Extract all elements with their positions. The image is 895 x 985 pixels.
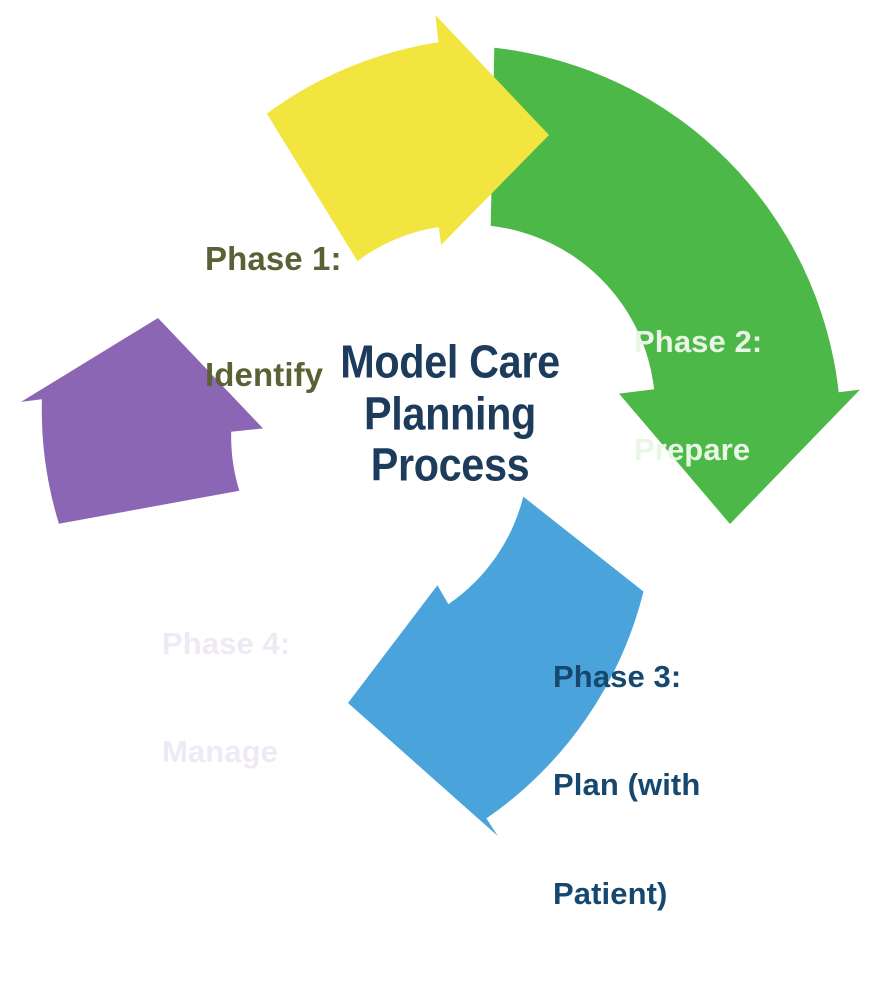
segment-phase-3-plan[interactable]	[348, 497, 644, 836]
segment-phase-4-manage[interactable]	[21, 318, 263, 524]
segment-phase-2-prepare[interactable]	[491, 48, 860, 524]
process-cycle-diagram: Phase 1: Identify Phase 2: Prepare Phase…	[0, 0, 895, 895]
cycle-arrow-ring	[0, 0, 895, 895]
